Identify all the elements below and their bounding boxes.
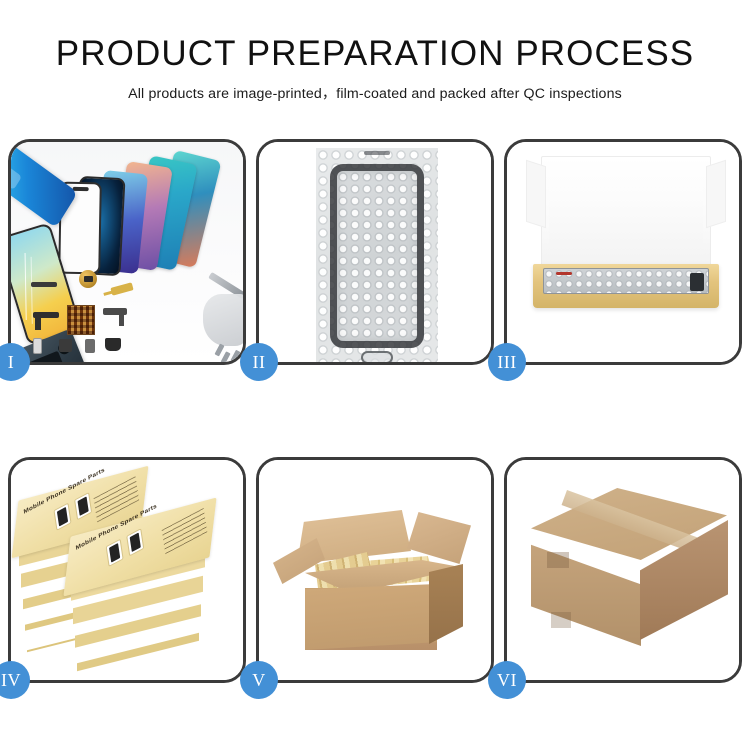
step-5-image [259, 460, 491, 680]
carton-side-face [429, 564, 463, 644]
step-badge-3: III [488, 343, 526, 381]
carton-seam-lower [551, 612, 571, 628]
process-step-panel-1: I [8, 139, 246, 365]
flex-cable-gray-icon [103, 308, 127, 315]
carton-seam-upper [547, 552, 569, 568]
product-preparation-page: PRODUCT PREPARATION PROCESS All products… [0, 0, 750, 750]
box-art-phone-4-icon [126, 528, 144, 556]
process-step-panel-3: III [504, 139, 742, 365]
film-coated-screen-scene [259, 142, 491, 362]
step-badge-2: II [240, 343, 278, 381]
flex-cable-gold-icon [110, 282, 133, 295]
page-header: PRODUCT PREPARATION PROCESS All products… [0, 34, 750, 103]
copper-connector-icon [79, 270, 97, 288]
step-badge-5: V [240, 661, 278, 699]
process-step-panel-4: Mobile Phone Spare Parts Mobile Phone Sp… [8, 457, 246, 683]
speaker-part-icon [105, 338, 121, 351]
carton-front-face [305, 584, 437, 650]
process-step-panel-6: VI [504, 457, 742, 683]
kraft-box-tray [533, 264, 719, 308]
wrapped-phone-screen [330, 164, 424, 348]
hand-icon [203, 294, 243, 346]
page-subtitle: All products are image-printed，film-coat… [0, 83, 750, 103]
camera-module-icon [59, 339, 72, 352]
box-art-phone-1-icon [53, 503, 71, 531]
open-carton-scene [259, 460, 491, 680]
process-step-panel-2: II [256, 139, 494, 365]
phone-parts-scene [11, 142, 243, 362]
step-4-image: Mobile Phone Spare Parts Mobile Phone Sp… [11, 460, 243, 680]
step-badge-6: VI [488, 661, 526, 699]
black-strip-part-icon [31, 282, 57, 287]
stacked-retail-boxes-scene: Mobile Phone Spare Parts Mobile Phone Sp… [11, 460, 243, 680]
earpiece-slot-icon [364, 151, 390, 155]
home-button-slot-icon [361, 351, 393, 362]
process-step-grid: I II [8, 139, 742, 683]
packed-phone-screen [543, 268, 709, 294]
step-6-image [507, 460, 739, 680]
sealed-carton-scene [507, 460, 739, 680]
step-1-image [11, 142, 243, 362]
open-kraft-box-scene [507, 142, 739, 362]
process-step-panel-5: V [256, 457, 494, 683]
box-spec-lines-front [162, 508, 208, 554]
sim-tray-icon [33, 338, 42, 354]
bubble-film-sheet [316, 148, 438, 362]
screws-icon [214, 344, 224, 357]
carton-flap-right [407, 512, 471, 564]
box-art-phone-2-icon [74, 492, 92, 520]
battery-part-icon [85, 339, 95, 353]
box-art-phone-3-icon [106, 539, 124, 567]
foam-padding [549, 188, 703, 260]
connector-grid-icon [67, 305, 95, 335]
flex-cable-black-icon [33, 312, 59, 318]
step-2-image [259, 142, 491, 362]
page-title: PRODUCT PREPARATION PROCESS [0, 34, 750, 74]
step-3-image [507, 142, 739, 362]
